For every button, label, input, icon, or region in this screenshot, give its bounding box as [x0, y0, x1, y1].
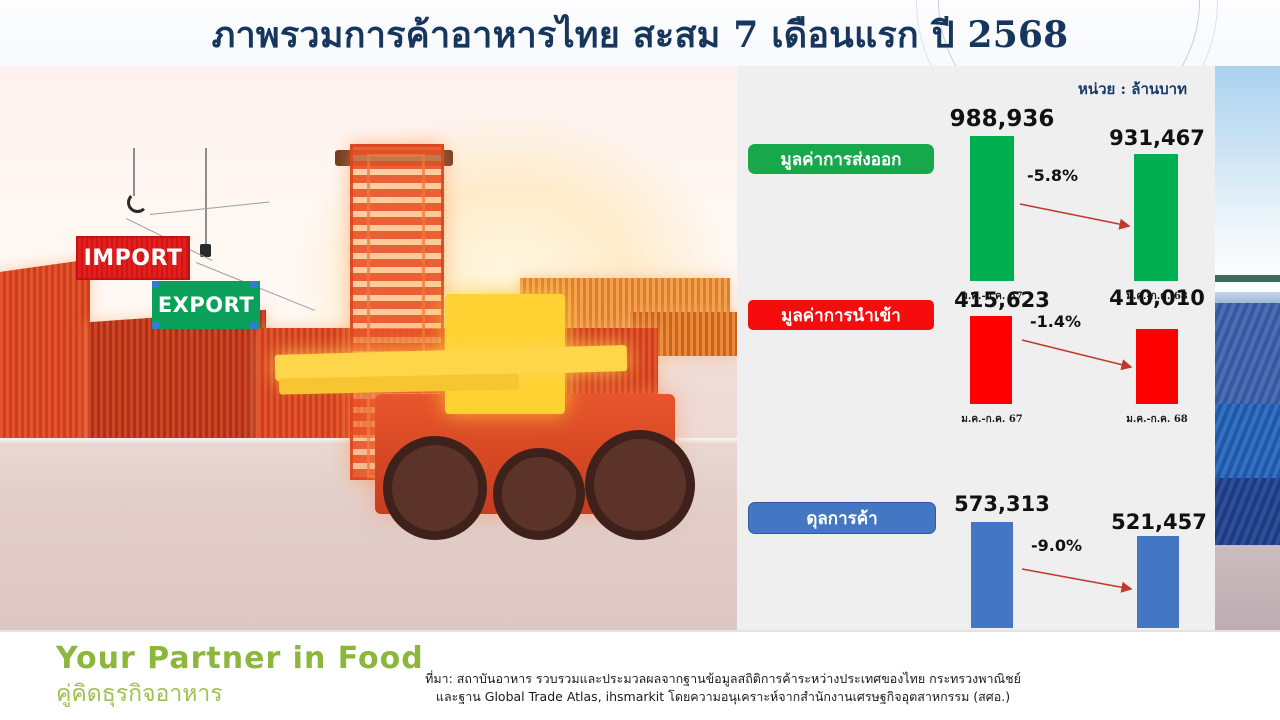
export-trend-arrow-icon	[1017, 196, 1147, 236]
export-text: EXPORT	[158, 293, 254, 317]
blue-containers-photo	[1215, 66, 1280, 630]
data-panel: หน่วย : ล้านบาท มูลค่าการส่งออก 988,936 …	[737, 66, 1215, 630]
import-bar-prev	[970, 316, 1012, 404]
balance-value-label-curr: 521,457	[1099, 510, 1219, 534]
import-value-label-curr: 410,010	[1097, 286, 1217, 310]
import-text: IMPORT	[84, 246, 183, 271]
vehicle-wheel	[383, 436, 487, 540]
photo-right-sky	[1215, 66, 1280, 292]
export-category-label: มูลค่าการส่งออก	[781, 146, 902, 173]
import-axis-label-curr: ม.ค.-ก.ค. 68	[1117, 412, 1197, 427]
unit-label: หน่วย : ล้านบาท	[1078, 77, 1187, 101]
chart-row-export: มูลค่าการส่งออก 988,936 ม.ค.-ก.ค. 67 931…	[737, 104, 1215, 284]
balance-trend-arrow-icon	[1019, 561, 1149, 601]
slide-footer: Your Partner in Food คู่คิดธุรกิจอาหาร ท…	[0, 630, 1280, 720]
import-category-label: มูลค่าการนำเข้า	[781, 302, 901, 329]
crane-cable	[133, 148, 135, 196]
vehicle-wheel	[493, 448, 585, 540]
brand-tagline-th: คู่คิดธุรกิจอาหาร	[56, 676, 223, 712]
photo-right-container	[1215, 478, 1280, 546]
container-stack-left	[0, 259, 90, 457]
vehicle-wheel	[585, 430, 695, 540]
slide: ภาพรวมการค้าอาหารไทย สะสม 7 เดือนแรก ปี …	[0, 0, 1280, 720]
balance-category-label: ดุลการค้า	[806, 505, 877, 532]
import-change-percent: -1.4%	[1030, 312, 1081, 331]
footer-divider	[0, 630, 1280, 632]
page-title: ภาพรวมการค้าอาหารไทย สะสม 7 เดือนแรก ปี …	[0, 6, 1280, 63]
photo-right-beam	[1215, 275, 1280, 282]
photo-right-container	[1215, 303, 1280, 405]
balance-bar-prev	[971, 522, 1013, 628]
export-value-label-curr: 931,467	[1097, 126, 1217, 150]
import-trend-arrow-icon	[1019, 334, 1149, 376]
import-container-label: IMPORT	[76, 236, 190, 280]
export-bar-prev	[970, 136, 1014, 281]
reach-stacker-vehicle	[255, 144, 725, 546]
balance-value-label-prev: 573,313	[942, 492, 1062, 516]
balance-category-badge: ดุลการค้า	[748, 502, 936, 534]
import-axis-label-prev: ม.ค.-ก.ค. 67	[952, 412, 1032, 427]
photo-band: IMPORT EXPORT หน่วย : ล้านบาท มูลค่าการส…	[0, 66, 1280, 630]
chart-row-import: มูลค่าการนำเข้า 415,623 ม.ค.-ก.ค. 67 410…	[737, 284, 1215, 439]
container-yard-photo: IMPORT EXPORT	[0, 66, 737, 630]
brand-tagline-en: Your Partner in Food	[56, 641, 424, 676]
balance-change-percent: -9.0%	[1031, 536, 1082, 555]
source-line-1: ที่มา: สถาบันอาหาร รวบรวมและประมวลผลจากฐ…	[378, 670, 1068, 688]
source-line-2: และฐาน Global Trade Atlas, ihsmarkit โดย…	[378, 688, 1068, 706]
import-value-label-prev: 415,623	[942, 288, 1062, 312]
import-category-badge: มูลค่าการนำเข้า	[748, 300, 934, 330]
crane-hook-icon	[127, 192, 148, 213]
export-change-percent: -5.8%	[1027, 166, 1078, 185]
photo-right-container	[1215, 404, 1280, 477]
export-value-label-prev: 988,936	[942, 106, 1062, 132]
chart-row-balance: ดุลการค้า 573,313 ม.ค.-ก.ค. 67 521,457 ม…	[737, 446, 1215, 626]
slide-header: ภาพรวมการค้าอาหารไทย สะสม 7 เดือนแรก ปี …	[0, 0, 1280, 66]
export-category-badge: มูลค่าการส่งออก	[748, 144, 934, 174]
source-citation: ที่มา: สถาบันอาหาร รวบรวมและประมวลผลจากฐ…	[378, 670, 1068, 706]
export-container-label: EXPORT	[152, 281, 260, 329]
photo-right-ground	[1215, 545, 1280, 630]
crane-cable	[205, 148, 207, 246]
